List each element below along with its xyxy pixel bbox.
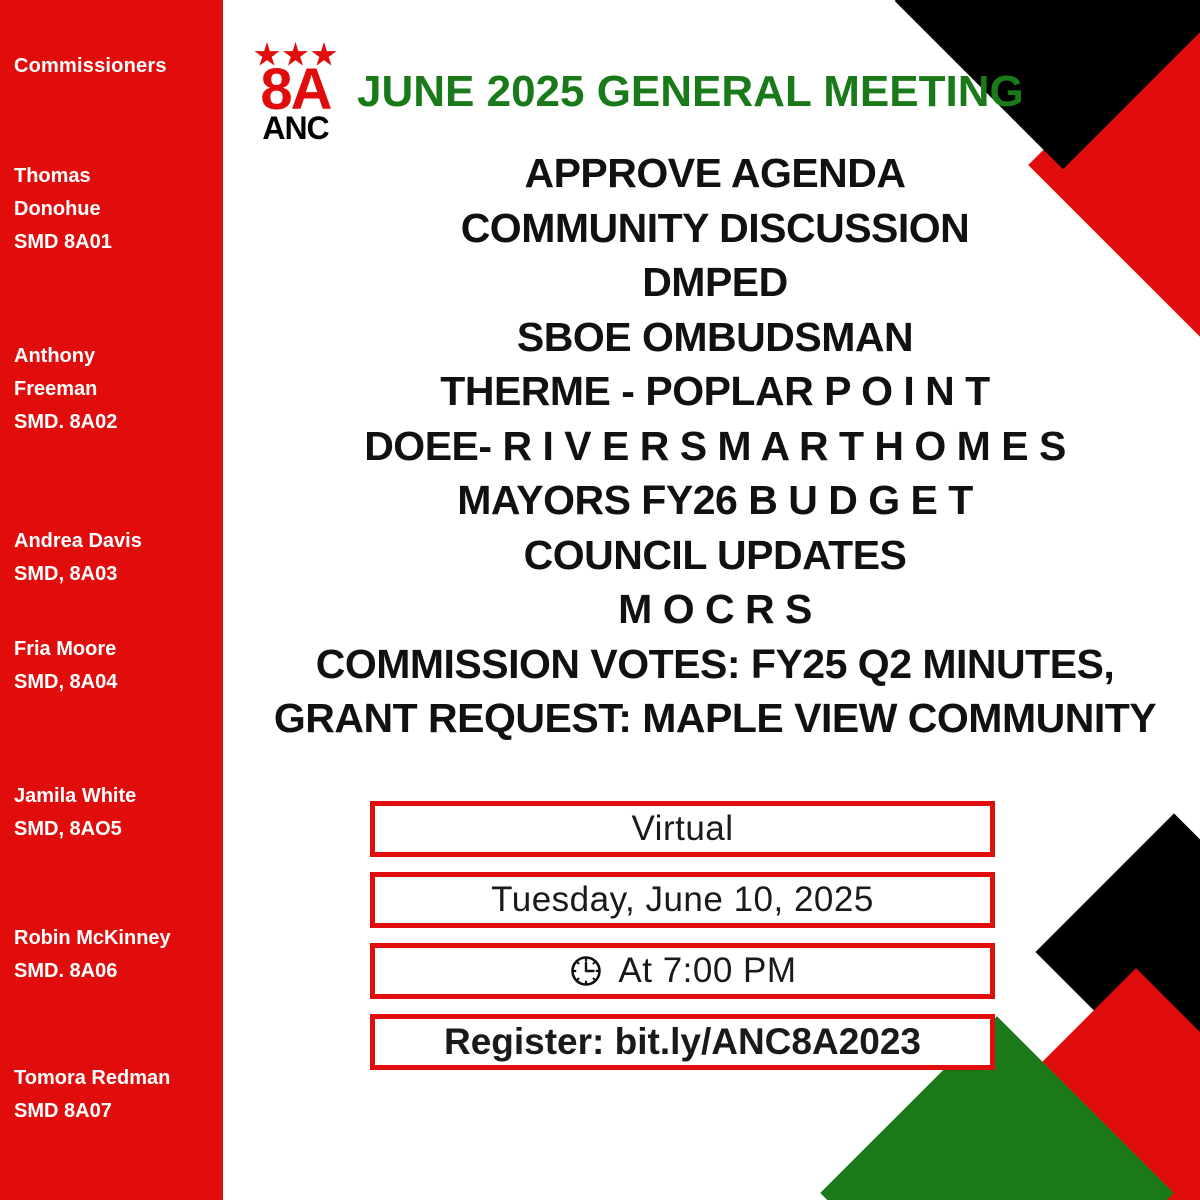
logo-sub-text: ANC <box>248 110 343 147</box>
clock-icon <box>568 953 604 989</box>
bottom-right-black-diamond <box>1035 813 1200 1090</box>
agenda-item: COMMUNITY DISCUSSION <box>240 201 1190 256</box>
time-text: At 7:00 PM <box>618 951 796 991</box>
register-box[interactable]: Register: bit.ly/ANC8A2023 <box>370 1014 995 1070</box>
sidebar-commissioner-2: Anthony Freeman SMD. 8A02 <box>14 340 117 439</box>
location-text: Virtual <box>631 809 733 849</box>
agenda-list: APPROVE AGENDA COMMUNITY DISCUSSION DMPE… <box>240 146 1190 746</box>
page-title: JUNE 2025 GENERAL MEETING <box>357 67 1024 117</box>
date-box: Tuesday, June 10, 2025 <box>370 872 995 928</box>
agenda-item: MAYORS FY26 B U D G E T <box>240 473 1190 528</box>
location-box: Virtual <box>370 801 995 857</box>
commissioners-sidebar: Commissioners Thomas Donohue SMD 8A01 An… <box>0 0 223 1200</box>
time-box: At 7:00 PM <box>370 943 995 999</box>
sidebar-commissioner-3: Andrea Davis SMD, 8A03 <box>14 525 142 591</box>
sidebar-commissioner-5: Jamila White SMD, 8AO5 <box>14 780 136 846</box>
agenda-item: COMMISSION VOTES: FY25 Q2 MINUTES, <box>240 637 1190 692</box>
sidebar-commissioner-7: Tomora Redman SMD 8A07 <box>14 1062 170 1128</box>
flyer-header: 8A ANC JUNE 2025 GENERAL MEETING <box>248 38 1024 146</box>
meeting-flyer: Commissioners Thomas Donohue SMD 8A01 An… <box>0 0 1200 1200</box>
agenda-item: GRANT REQUEST: MAPLE VIEW COMMUNITY <box>240 691 1190 746</box>
sidebar-commissioner-1: Thomas Donohue SMD 8A01 <box>14 160 112 259</box>
sidebar-commissioner-6: Robin McKinney SMD. 8A06 <box>14 922 171 988</box>
agenda-item: COUNCIL UPDATES <box>240 528 1190 583</box>
register-text[interactable]: Register: bit.ly/ANC8A2023 <box>444 1021 921 1063</box>
agenda-item: SBOE OMBUDSMAN <box>240 310 1190 365</box>
date-text: Tuesday, June 10, 2025 <box>491 880 874 920</box>
agenda-item: DMPED <box>240 255 1190 310</box>
agenda-item: THERME - POPLAR P O I N T <box>240 364 1190 419</box>
sidebar-title: Commissioners <box>14 55 167 78</box>
meeting-details: Virtual Tuesday, June 10, 2025 At 7:00 P… <box>370 801 995 1085</box>
anc-8a-logo-icon: 8A ANC <box>248 38 343 146</box>
agenda-item: M O C R S <box>240 582 1190 637</box>
agenda-item: DOEE- R I V E R S M A R T H O M E S <box>240 419 1190 474</box>
sidebar-commissioner-4: Fria Moore SMD, 8A04 <box>14 633 117 699</box>
agenda-item: APPROVE AGENDA <box>240 146 1190 201</box>
